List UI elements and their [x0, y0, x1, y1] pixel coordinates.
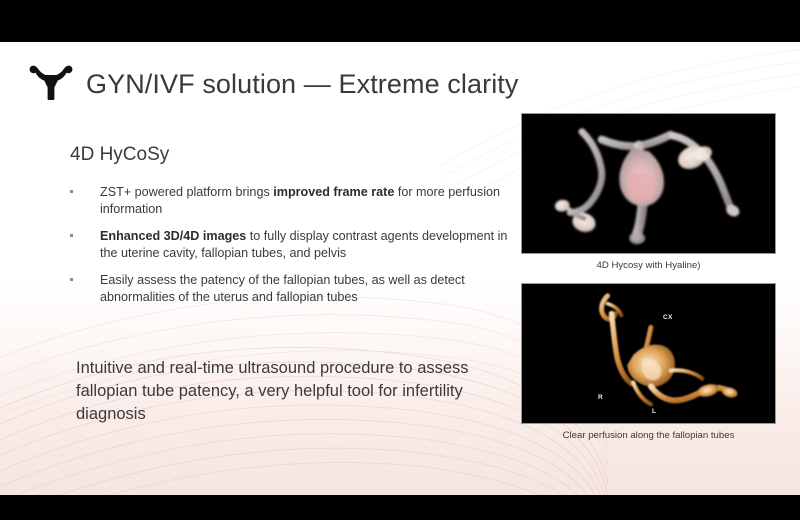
- page-title: GYN/IVF solution — Extreme clarity: [86, 69, 519, 100]
- slide-canvas: GYN/IVF solution — Extreme clarity 4D Hy…: [0, 42, 800, 495]
- bullet-text: Easily assess the patency of the fallopi…: [100, 273, 465, 304]
- figure-perfusion-caption: Clear perfusion along the fallopian tube…: [521, 430, 776, 442]
- bullet-item: ZST+ powered platform brings improved fr…: [66, 184, 511, 217]
- figure-perfusion: CX R L Clear perfusion along the fallopi…: [521, 283, 776, 442]
- bullet-list: ZST+ powered platform brings improved fr…: [66, 184, 511, 317]
- letterbox-bar-top: [0, 0, 800, 42]
- figure-3d-uterus-caption: 4D Hycosy with Hyaline): [521, 260, 776, 272]
- bullet-marker-icon: [70, 234, 73, 237]
- uterus-icon: [26, 62, 76, 106]
- bullet-marker-icon: [70, 278, 73, 281]
- letterbox-bar-bottom: [0, 495, 800, 520]
- scan-label-l: L: [652, 408, 656, 415]
- summary-paragraph: Intuitive and real-time ultrasound proce…: [76, 357, 496, 426]
- bullet-text-emphasis: Enhanced 3D/4D images: [100, 229, 246, 243]
- section-subtitle: 4D HyCoSy: [70, 144, 169, 166]
- bullet-text-emphasis: improved frame rate: [273, 185, 394, 199]
- figure-3d-uterus-image: [521, 113, 776, 254]
- bullet-marker-icon: [70, 190, 73, 193]
- bullet-item: Enhanced 3D/4D images to fully display c…: [66, 228, 511, 261]
- scan-label-r: R: [598, 394, 603, 401]
- bullet-item: Easily assess the patency of the fallopi…: [66, 272, 511, 305]
- slide-header: GYN/IVF solution — Extreme clarity: [26, 62, 519, 106]
- bullet-text: ZST+ powered platform brings: [100, 185, 273, 199]
- figure-perfusion-image: CX R L: [521, 283, 776, 424]
- scan-label-cx: CX: [663, 314, 673, 321]
- slide-frame: GYN/IVF solution — Extreme clarity 4D Hy…: [0, 0, 800, 520]
- figure-3d-uterus: 4D Hycosy with Hyaline): [521, 113, 776, 272]
